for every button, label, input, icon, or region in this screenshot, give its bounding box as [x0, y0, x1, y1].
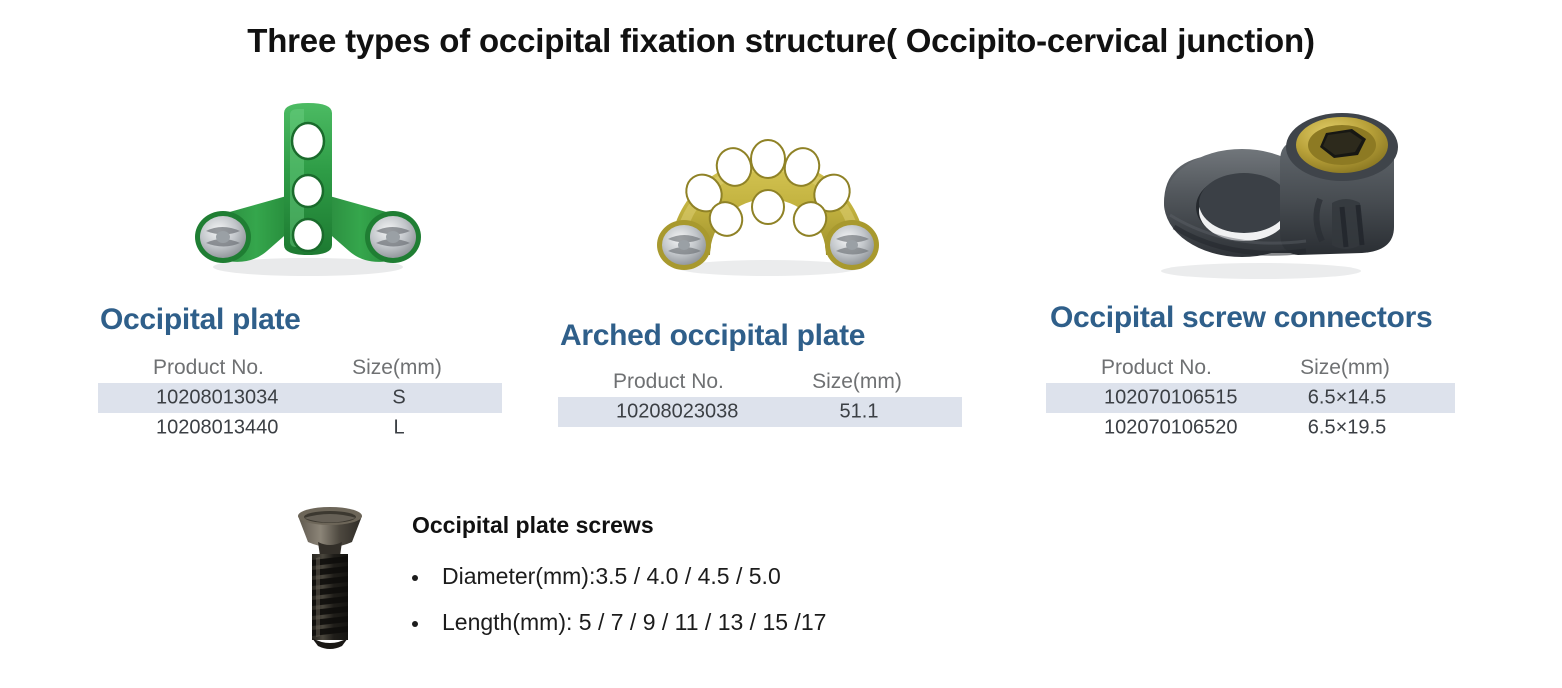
table-row[interactable]: 102070106520 6.5×19.5 [1046, 413, 1455, 443]
bullet-dot-icon [412, 621, 418, 627]
cell-size: S [344, 387, 454, 410]
slide-root: Three types of occipital fixation struct… [0, 0, 1562, 688]
table-row[interactable]: 10208023038 51.1 [558, 397, 962, 427]
cell-size: 6.5×19.5 [1292, 417, 1402, 440]
column-header-product-no: Product No. [613, 370, 724, 394]
column-header-product-no: Product No. [1101, 356, 1212, 380]
heading-arched-occipital-plate: Arched occipital plate [560, 319, 865, 353]
product-column-occipital-plate: Occipital plate Product No. Size(mm) 102… [98, 95, 518, 285]
bullet-dot-icon [412, 575, 418, 581]
page-title: Three types of occipital fixation struct… [0, 22, 1562, 60]
product-column-occipital-screw-connectors: Occipital screw connectors Product No. S… [1046, 95, 1476, 285]
column-header-size: Size(mm) [802, 370, 912, 394]
cell-product-no: 102070106520 [1104, 417, 1237, 440]
arched-occipital-plate-graphic [558, 95, 978, 285]
table-header-row: Product No. Size(mm) [98, 353, 502, 383]
column-header-size: Size(mm) [1290, 356, 1400, 380]
cell-size: 51.1 [804, 401, 914, 424]
occipital-plate-graphic [98, 95, 518, 285]
occipital-screw-connector-graphic [1046, 95, 1476, 285]
table-row[interactable]: 10208013034 S [98, 383, 502, 413]
bullet-label-length: Length(mm): 5 / 7 / 9 / 11 / 13 / 15 /17 [442, 609, 826, 636]
bone-screw-graphic [280, 500, 380, 660]
table-header-row: Product No. Size(mm) [1046, 353, 1455, 383]
cell-product-no: 102070106515 [1104, 387, 1237, 410]
occipital-screw-connectors-image [1046, 95, 1476, 285]
table-row[interactable]: 102070106515 6.5×14.5 [1046, 383, 1455, 413]
cell-product-no: 10208013440 [156, 417, 278, 440]
heading-occipital-screw-connectors: Occipital screw connectors [1050, 301, 1432, 335]
product-column-arched-occipital-plate: Arched occipital plate Product No. Size(… [558, 95, 978, 285]
column-header-product-no: Product No. [153, 356, 264, 380]
cell-product-no: 10208023038 [616, 401, 738, 424]
cell-product-no: 10208013034 [156, 387, 278, 410]
spec-table-arched-occipital-plate: Product No. Size(mm) 10208023038 51.1 [558, 367, 962, 427]
spec-table-occipital-screw-connectors: Product No. Size(mm) 102070106515 6.5×14… [1046, 353, 1455, 443]
table-row[interactable]: 10208013440 L [98, 413, 502, 443]
arched-occipital-plate-image [558, 95, 978, 285]
spec-table-occipital-plate: Product No. Size(mm) 10208013034 S 10208… [98, 353, 502, 443]
occipital-plate-image [98, 95, 518, 285]
screws-section-title: Occipital plate screws [412, 512, 654, 539]
column-header-size: Size(mm) [342, 356, 452, 380]
table-header-row: Product No. Size(mm) [558, 367, 962, 397]
cell-size: 6.5×14.5 [1292, 387, 1402, 410]
heading-occipital-plate: Occipital plate [100, 303, 301, 337]
occipital-plate-screw-image [280, 500, 380, 660]
bullet-label-diameter: Diameter(mm):3.5 / 4.0 / 4.5 / 5.0 [442, 563, 781, 590]
cell-size: L [344, 417, 454, 440]
